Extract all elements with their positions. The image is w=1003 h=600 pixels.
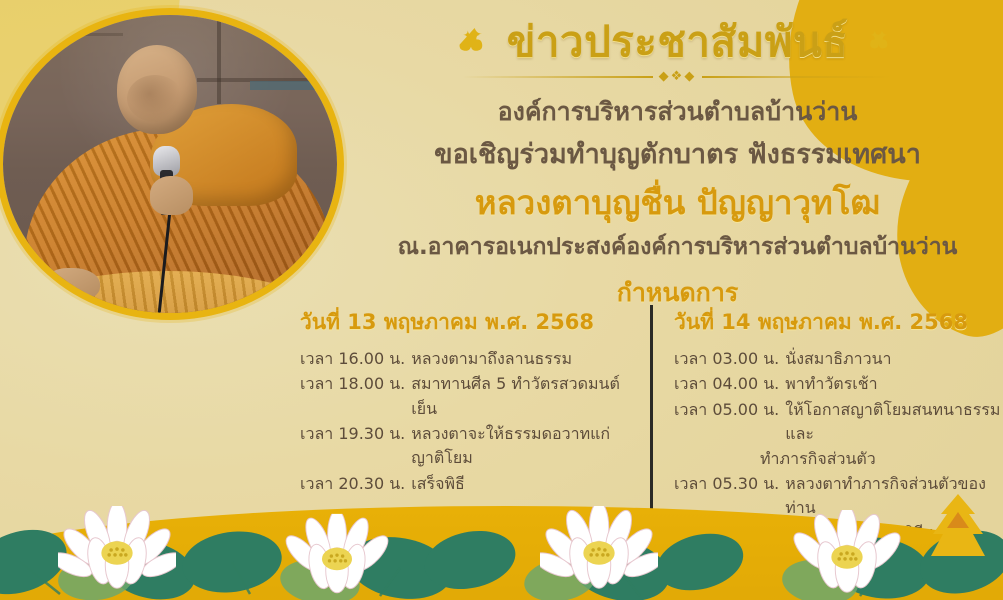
day1-items: เวลา 16.00 น.หลวงตามาถึงลานธรรมเวลา 18.0… [300,347,628,496]
monk-hand [150,176,193,215]
day1-heading: วันที่ 13 พฤษภาคม พ.ศ. 2568 [300,306,628,339]
schedule-item-description: นั่งสมาธิภาวนา [785,347,891,371]
divider-ornament-icon: ◆❖◆ [659,69,697,84]
lotus-flower-icon [540,506,658,598]
poster-canvas: ข่าวประชาสัมพันธ์ ◆❖◆ องค์การบริหารส่วนต… [0,0,1003,600]
floral-diamond-ornament-right-icon [866,27,896,57]
monk-hand-lower [46,268,99,301]
thai-gold-ornament-icon [925,494,991,564]
divider-bar-left [463,76,653,78]
schedule-item: เวลา 03.00 น.นั่งสมาธิภาวนา [674,347,1003,371]
floral-diamond-ornament-left-icon [459,27,489,57]
title-row: ข่าวประชาสัมพันธ์ [352,18,1003,65]
schedule-item: เวลา 16.00 น.หลวงตามาถึงลานธรรม [300,347,628,371]
schedule-item-continuation: ทำภารกิจส่วนตัว [674,447,1003,471]
wall-seam-icon [217,15,221,104]
schedule-item: เวลา 05.00 น.ให้โอกาสญาติโยมสนทนาธรรมและ [674,398,1003,447]
monk-portrait-photo [0,8,344,320]
lotus-flower-icon [280,514,393,600]
photo-background [3,15,337,313]
wall-seam-icon [3,33,123,36]
schedule-item-description: สมาทานศีล 5 ทำวัตรสวดมนต์เย็น [411,372,628,421]
schedule-item: เวลา 18.00 น.สมาทานศีล 5 ทำวัตรสวดมนต์เย… [300,372,628,421]
poster-header: ข่าวประชาสัมพันธ์ ◆❖◆ องค์การบริหารส่วนต… [352,18,1003,313]
schedule-item-time: เวลา 03.00 น. [674,347,779,371]
day2-heading: วันที่ 14 พฤษภาคม พ.ศ. 2568 [674,306,1003,339]
divider-bar-right [702,76,892,78]
schedule-item-description: หลวงตาจะให้ธรรมดอวาทแก่ญาติโยม [411,422,628,471]
schedule-item-description: พาทำวัตรเช้า [785,372,877,396]
schedule-item-time: เวลา 04.00 น. [674,372,779,396]
schedule-item-time: เวลา 16.00 น. [300,347,405,371]
organization-name: องค์การบริหารส่วนตำบลบ้านว่าน [352,94,1003,130]
schedule-item-description: หลวงตามาถึงลานธรรม [411,347,572,371]
schedule-item-time: เวลา 05.00 น. [674,398,779,447]
decorative-divider: ◆❖◆ [463,69,893,84]
invitation-text: ขอเชิญร่วมทำบุญตักบาตร ฟังธรรมเทศนา [352,135,1003,174]
schedule-item: เวลา 19.30 น.หลวงตาจะให้ธรรมดอวาทแก่ญาติ… [300,422,628,471]
schedule-item-time: เวลา 18.00 น. [300,372,405,421]
page-title: ข่าวประชาสัมพันธ์ [507,18,849,65]
schedule-item-description: ให้โอกาสญาติโยมสนทนาธรรมและ [785,398,1003,447]
lotus-flower-icon [58,506,176,598]
schedule-item-time: เวลา 19.30 น. [300,422,405,471]
monk-name: หลวงตาบุญชื่น ปัญญาวุทโฒ [352,182,1003,225]
lotus-flower-icon [788,510,906,600]
wall-panel-icon [250,81,337,90]
venue-text: ณ.อาคารอเนกประสงค์องค์การบริหารส่วนตำบลบ… [352,231,1003,264]
schedule-item: เวลา 04.00 น.พาทำวัตรเช้า [674,372,1003,396]
